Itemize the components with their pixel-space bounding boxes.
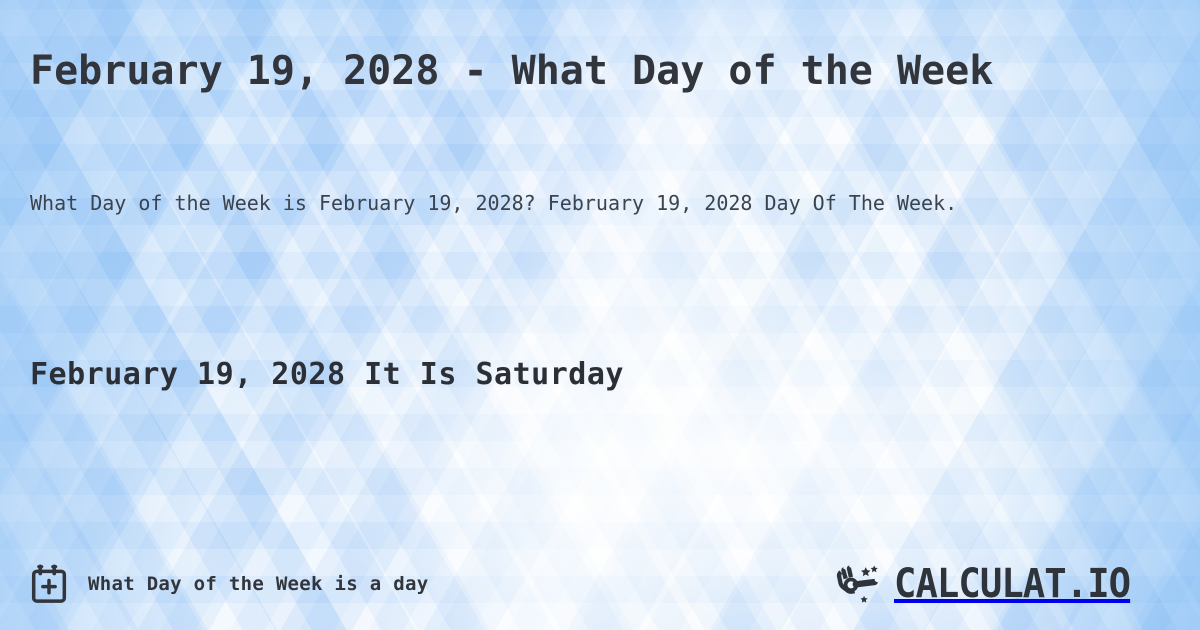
page-root: February 19, 2028 - What Day of the Week… bbox=[0, 0, 1200, 630]
brand-wordmark: CALCULAT.IO bbox=[894, 562, 1148, 606]
content-area: February 19, 2028 - What Day of the Week… bbox=[0, 0, 1200, 630]
answer-heading: February 19, 2028 It Is Saturday bbox=[30, 355, 624, 395]
footer-tagline: What Day of the Week is a day bbox=[88, 573, 428, 595]
page-subtitle: What Day of the Week is February 19, 202… bbox=[30, 186, 1100, 220]
page-title: February 19, 2028 - What Day of the Week bbox=[30, 44, 1170, 99]
footer: What Day of the Week is a day bbox=[0, 538, 1200, 630]
footer-left-group: What Day of the Week is a day bbox=[28, 563, 428, 605]
brand-logo-link[interactable]: CALCULAT.IO bbox=[832, 562, 1148, 606]
hand-magic-wand-icon bbox=[832, 562, 886, 606]
brand-name: CALCULAT.IO bbox=[894, 562, 1130, 606]
calendar-plus-icon bbox=[28, 563, 70, 605]
